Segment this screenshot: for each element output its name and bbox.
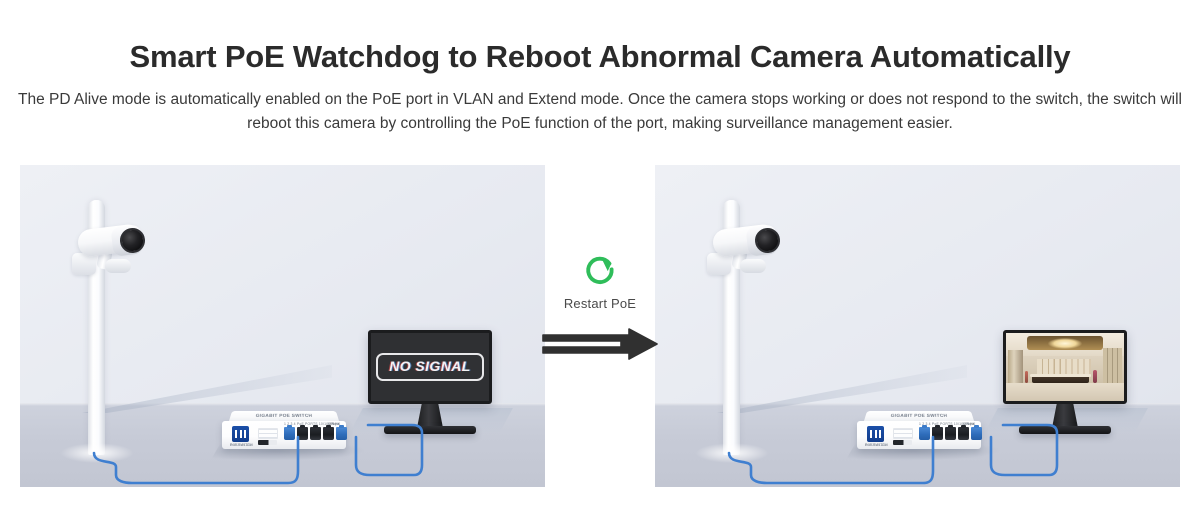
- panel-before: NO SIGNAL GIGABIT POE SWITCH PoE SWITCH: [20, 165, 545, 487]
- page-title: Smart PoE Watchdog to Reboot Abnormal Ca…: [0, 36, 1200, 78]
- restart-poe-label: Restart PoE: [564, 296, 636, 311]
- marketing-feature-page: Smart PoE Watchdog to Reboot Abnormal Ca…: [0, 0, 1200, 520]
- restart-refresh-icon: [582, 253, 618, 289]
- ethernet-cable-monitor: [655, 165, 1180, 487]
- transition-arrow: [541, 329, 659, 369]
- page-subtitle: The PD Alive mode is automatically enabl…: [15, 88, 1185, 136]
- restart-indicator-column: Restart PoE: [545, 165, 655, 487]
- panel-after: GIGABIT POE SWITCH PoE SWITCH 1 2 3 4 Po…: [655, 165, 1180, 487]
- header: Smart PoE Watchdog to Reboot Abnormal Ca…: [0, 0, 1200, 136]
- ethernet-cable-monitor: [20, 165, 545, 487]
- double-line-right-arrow-icon: [541, 329, 659, 369]
